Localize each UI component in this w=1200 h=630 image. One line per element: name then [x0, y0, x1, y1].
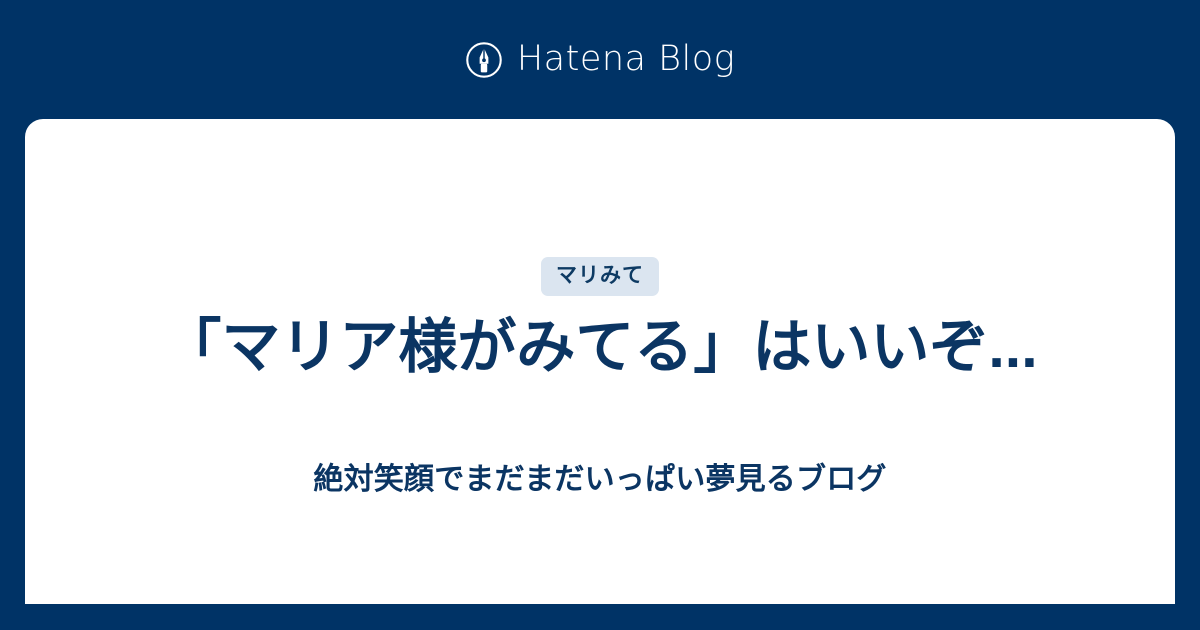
category-badge[interactable]: マリみて [541, 257, 659, 296]
entry-title: 「マリア様がみてる」はいいぞ... [162, 313, 1037, 383]
hatena-blog-brand-header: Hatena Blog [0, 0, 1200, 119]
entry-card-content: マリみて 「マリア様がみてる」はいいぞ... 絶対笑顔でまだまだいっぱい夢見るブ… [25, 119, 1175, 498]
brand-name-label: Hatena Blog [517, 42, 735, 77]
entry-card: マリみて 「マリア様がみてる」はいいぞ... 絶対笑顔でまだまだいっぱい夢見るブ… [25, 119, 1175, 604]
hatena-pen-nib-icon [465, 41, 503, 79]
blog-title[interactable]: 絶対笑顔でまだまだいっぱい夢見るブログ [313, 462, 886, 498]
ogp-card-canvas: Hatena Blog マリみて 「マリア様がみてる」はいいぞ... 絶対笑顔で… [0, 0, 1200, 630]
